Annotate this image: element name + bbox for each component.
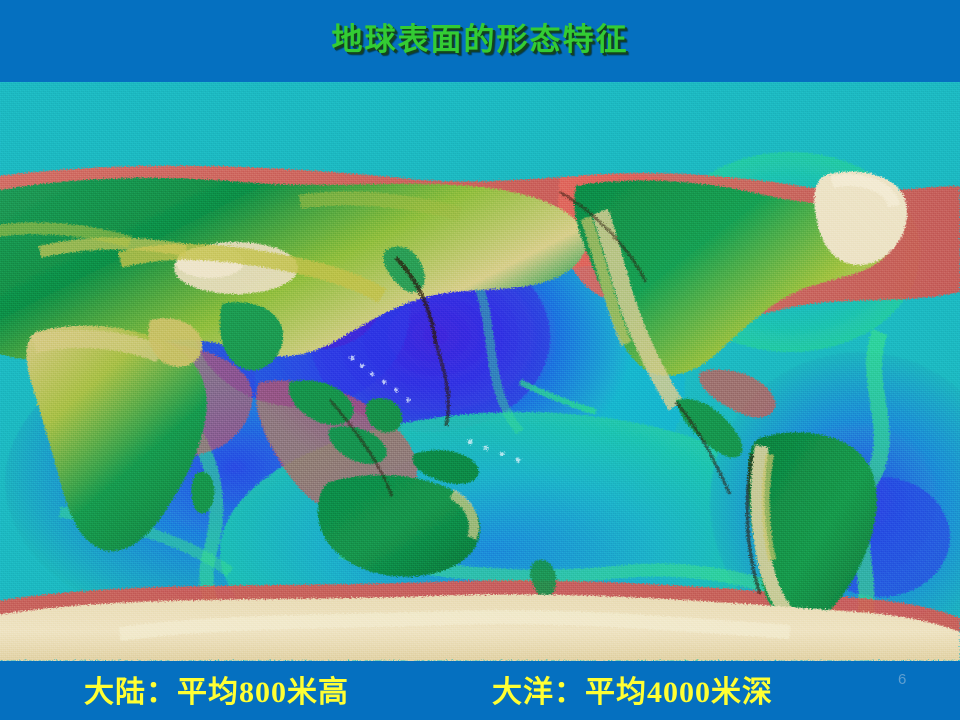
caption-continent-average-height: 大陆：平均800米高 [84,678,349,708]
page-title: 地球表面的形态特征 [332,24,629,59]
map-svg [0,82,960,661]
map-raster-layer [0,82,960,661]
title-bar: 地球表面的形态特征 [0,0,960,82]
world-topography-map [0,82,960,661]
caption-bar: 大陆：平均800米高 大洋：平均4000米深 [0,661,960,720]
caption-ocean-average-depth: 大洋：平均4000米深 [492,678,773,708]
slide-canvas: 地球表面的形态特征 [0,0,960,720]
page-number: 6 [898,672,906,687]
